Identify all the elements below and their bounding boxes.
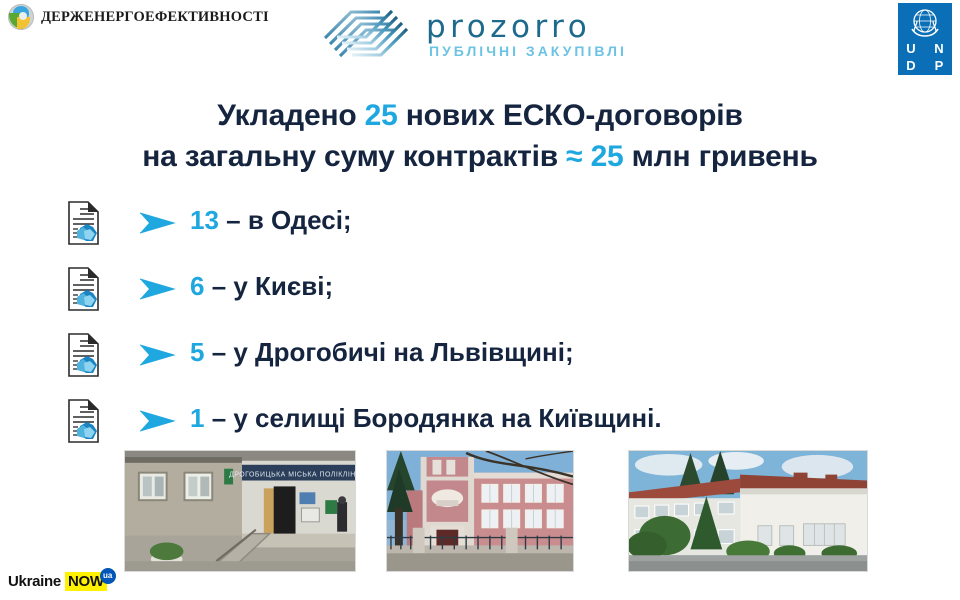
undp-letter-d: D: [898, 58, 924, 73]
list-item: 13 – в Одесі;: [0, 196, 960, 262]
undp-letters: U N D P: [898, 41, 952, 75]
list-item: 6 – у Києві;: [0, 262, 960, 328]
prozorro-diamond-icon: [318, 4, 414, 64]
undp-letter-p: P: [926, 58, 952, 73]
list-item-count: 6: [190, 271, 204, 301]
list-item-label: – у Києві;: [204, 271, 333, 301]
list-item-text: 5 – у Дрогобичі на Львівщині;: [190, 334, 574, 370]
arrow-bullet-icon: [138, 408, 178, 434]
list-item-text: 1 – у селищі Бородянка на Київщині.: [190, 400, 662, 436]
gov-agency-logo: Держенергоефективності: [8, 4, 269, 30]
prozorro-logo: prozorro ПУБЛІЧНІ ЗАКУПІВЛІ: [318, 4, 627, 64]
ukraine-now-word: Ukraine: [8, 573, 61, 590]
list-item-count: 13: [190, 205, 219, 235]
contract-list: 13 – в Одесі;: [0, 196, 960, 460]
contract-handshake-icon: [60, 398, 102, 444]
page-header: Держенергоефективності: [0, 0, 960, 78]
title-line-1: Укладено 25 нових ЕСКО-договорів: [0, 96, 960, 137]
list-item-label: – у селищі Бородянка на Київщині.: [204, 403, 661, 433]
prozorro-tagline: ПУБЛІЧНІ ЗАКУПІВЛІ: [426, 44, 627, 58]
ukraine-now-badge: ua: [100, 568, 116, 584]
contract-handshake-icon: [60, 266, 102, 312]
list-item-label: – у Дрогобичі на Львівщині;: [204, 337, 573, 367]
title-line-2: на загальну суму контрактів ≈ 25 млн гри…: [0, 137, 960, 178]
prozorro-wordmark: prozorro: [426, 12, 627, 43]
list-item-label: – в Одесі;: [219, 205, 352, 235]
photo-drohobych-polyclinic: ДРОГОБИЦЬКА МІСЬКА ПОЛІКЛІНІКА: [124, 450, 356, 572]
globe-emblem-icon: [8, 4, 34, 30]
list-item-count: 5: [190, 337, 204, 367]
list-item-text: 13 – в Одесі;: [190, 202, 352, 238]
undp-letter-n: N: [926, 41, 952, 56]
photo-white-community-building: [628, 450, 868, 572]
title-line-1-highlight: 25: [365, 99, 398, 132]
title-line-2-suffix: млн гривень: [624, 140, 818, 173]
list-item: 5 – у Дрогобичі на Львівщині;: [0, 328, 960, 394]
gov-agency-name: Держенергоефективності: [41, 9, 269, 26]
contract-handshake-icon: [60, 332, 102, 378]
contract-handshake-icon: [60, 200, 102, 246]
arrow-bullet-icon: [138, 342, 178, 368]
arrow-bullet-icon: [138, 276, 178, 302]
arrow-bullet-icon: [138, 210, 178, 236]
photo-pink-school-building: [386, 450, 574, 572]
un-globe-emblem-icon: [898, 3, 952, 41]
title-line-1-suffix: нових ЕСКО-договорів: [398, 99, 743, 132]
slide-title: Укладено 25 нових ЕСКО-договорів на зага…: [0, 96, 960, 178]
ukraine-now-logo: Ukraine NOW ua: [8, 572, 116, 591]
title-line-1-prefix: Укладено: [217, 99, 364, 132]
svg-text:ДРОГОБИЦЬКА МІСЬКА ПОЛІКЛІНІКА: ДРОГОБИЦЬКА МІСЬКА ПОЛІКЛІНІКА: [229, 472, 355, 479]
title-line-2-highlight: ≈ 25: [566, 140, 623, 173]
prozorro-wordmark-group: prozorro ПУБЛІЧНІ ЗАКУПІВЛІ: [426, 10, 627, 58]
undp-logo: U N D P: [898, 3, 952, 75]
list-item-text: 6 – у Києві;: [190, 268, 333, 304]
undp-letter-u: U: [898, 41, 924, 56]
list-item-count: 1: [190, 403, 204, 433]
title-line-2-prefix: на загальну суму контрактів: [142, 140, 566, 173]
photo-strip: ДРОГОБИЦЬКА МІСЬКА ПОЛІКЛІНІКА: [0, 450, 960, 572]
